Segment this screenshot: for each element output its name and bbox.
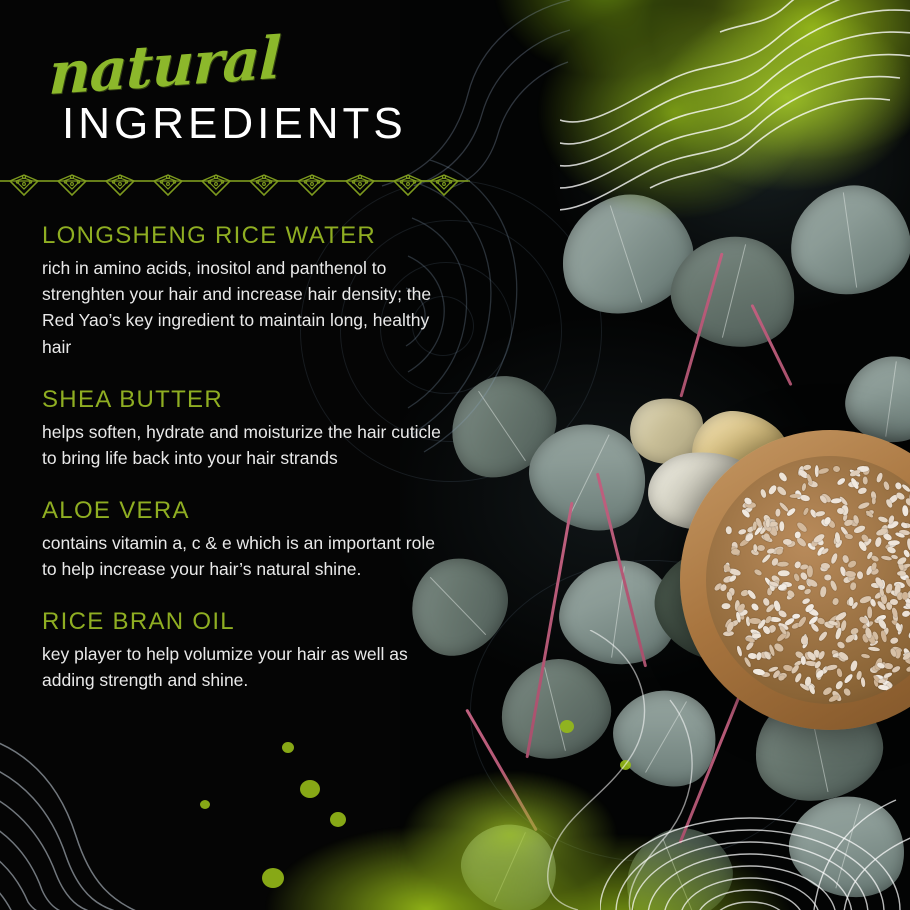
rice-grain bbox=[862, 476, 868, 485]
ingredient-item: ALOE VERA contains vitamin a, c & e whic… bbox=[42, 497, 442, 582]
rice-grain bbox=[777, 562, 789, 567]
rice-grain bbox=[775, 509, 781, 517]
rice-grain bbox=[821, 562, 831, 569]
rice-grain bbox=[831, 598, 839, 607]
rice-grain bbox=[835, 668, 842, 678]
rice-grain bbox=[779, 521, 784, 531]
ingredient-name: ALOE VERA bbox=[42, 497, 442, 526]
rice-grain bbox=[750, 602, 760, 612]
rice-grain bbox=[890, 637, 900, 645]
rice-grain bbox=[831, 552, 839, 564]
rice-grain bbox=[858, 501, 871, 510]
rice-grain bbox=[815, 510, 826, 517]
rice-grain bbox=[887, 539, 899, 545]
rice-grain bbox=[746, 589, 757, 601]
paint-speck bbox=[560, 720, 574, 733]
rice-grain bbox=[904, 577, 910, 588]
rice-grain bbox=[853, 514, 860, 524]
paint-speck bbox=[620, 760, 631, 770]
rice-grain bbox=[761, 553, 772, 564]
rice-grain bbox=[752, 633, 761, 638]
rice-grain bbox=[760, 489, 767, 499]
ingredient-item: SHEA BUTTER helps soften, hydrate and mo… bbox=[42, 386, 442, 471]
rice-grain bbox=[850, 627, 859, 636]
ingredient-name: SHEA BUTTER bbox=[42, 386, 442, 415]
rice-grain bbox=[827, 693, 839, 703]
ingredient-name: LONGSHENG RICE WATER bbox=[42, 222, 442, 251]
rice-grain bbox=[802, 507, 809, 516]
rice-grain bbox=[901, 610, 910, 617]
rice-grain bbox=[877, 515, 888, 523]
rice-grain bbox=[844, 519, 854, 527]
poster-title: natural INGREDIENTS bbox=[42, 48, 442, 146]
rice-grain bbox=[757, 545, 765, 551]
rice-grain bbox=[756, 652, 762, 661]
rice-grain bbox=[821, 685, 833, 696]
rice-grain bbox=[805, 474, 813, 486]
rice-grain bbox=[882, 671, 892, 679]
rice-grain bbox=[835, 628, 842, 640]
ingredient-description: contains vitamin a, c & e which is an im… bbox=[42, 530, 442, 583]
rice-grain bbox=[875, 472, 883, 483]
text-column: natural INGREDIENTS bbox=[0, 0, 470, 910]
ingredients-list: LONGSHENG RICE WATER rich in amino acids… bbox=[42, 222, 442, 720]
rice-grain bbox=[906, 666, 910, 673]
rice-grain bbox=[800, 656, 805, 665]
rice-grain bbox=[849, 597, 854, 606]
rice-grains bbox=[706, 456, 910, 704]
watercolor-splash-top-right-accent bbox=[590, 0, 910, 230]
rice-grain bbox=[867, 607, 872, 619]
rice-grain bbox=[842, 687, 852, 697]
rice-grain bbox=[880, 555, 891, 561]
rice-grain bbox=[722, 602, 731, 608]
rice-grain bbox=[900, 483, 910, 493]
rice-grain bbox=[806, 578, 818, 589]
rice-grain bbox=[777, 471, 788, 483]
rice-grain bbox=[752, 668, 765, 676]
rice-grain bbox=[867, 646, 879, 652]
rice-grain bbox=[776, 485, 789, 497]
rice-grain bbox=[832, 466, 840, 473]
rice-grain bbox=[845, 533, 853, 539]
rice-grain bbox=[793, 672, 802, 683]
rice-grain bbox=[830, 497, 841, 504]
rice-grain bbox=[829, 580, 838, 592]
ingredient-description: rich in amino acids, inositol and panthe… bbox=[42, 255, 442, 360]
rice-grain bbox=[801, 483, 806, 491]
rice-grain bbox=[886, 545, 896, 554]
title-script-word: natural bbox=[48, 20, 443, 100]
rice-grain bbox=[892, 607, 899, 618]
rice-grain bbox=[736, 645, 743, 657]
rice-grain bbox=[819, 631, 829, 642]
rice-grain bbox=[818, 467, 830, 475]
rice-grain bbox=[872, 497, 876, 505]
decorative-divider bbox=[0, 173, 470, 201]
rice-grain bbox=[897, 571, 907, 576]
rice-grain bbox=[773, 641, 785, 652]
rice-grain bbox=[726, 525, 733, 533]
rice-grain bbox=[801, 635, 809, 645]
ingredient-description: key player to help volumize your hair as… bbox=[42, 641, 442, 694]
rice-grain bbox=[850, 660, 858, 672]
ingredient-description: helps soften, hydrate and moisturize the… bbox=[42, 419, 442, 472]
ingredient-item: LONGSHENG RICE WATER rich in amino acids… bbox=[42, 222, 442, 360]
rice-grain bbox=[836, 477, 846, 486]
rice-grain bbox=[874, 537, 882, 548]
rice-grain bbox=[903, 505, 910, 517]
title-headline: INGREDIENTS bbox=[62, 102, 442, 146]
rice-grain bbox=[778, 570, 790, 577]
ingredient-name: RICE BRAN OIL bbox=[42, 608, 442, 637]
ingredients-poster: natural INGREDIENTS bbox=[0, 0, 910, 910]
rice-grain bbox=[810, 622, 820, 632]
rice-grain bbox=[843, 673, 854, 685]
rice-grain bbox=[879, 588, 885, 596]
rice-grain bbox=[791, 613, 800, 619]
rice-grain bbox=[861, 653, 870, 659]
rice-grain bbox=[749, 618, 761, 624]
rice-grain bbox=[849, 582, 857, 591]
rice-grain bbox=[753, 568, 763, 577]
rice-grain bbox=[836, 640, 846, 649]
rice-grain bbox=[799, 494, 810, 502]
ingredient-item: RICE BRAN OIL key player to help volumiz… bbox=[42, 608, 442, 693]
rice-grain bbox=[856, 571, 863, 579]
rice-grain bbox=[882, 480, 890, 490]
rice-grain bbox=[820, 586, 827, 598]
